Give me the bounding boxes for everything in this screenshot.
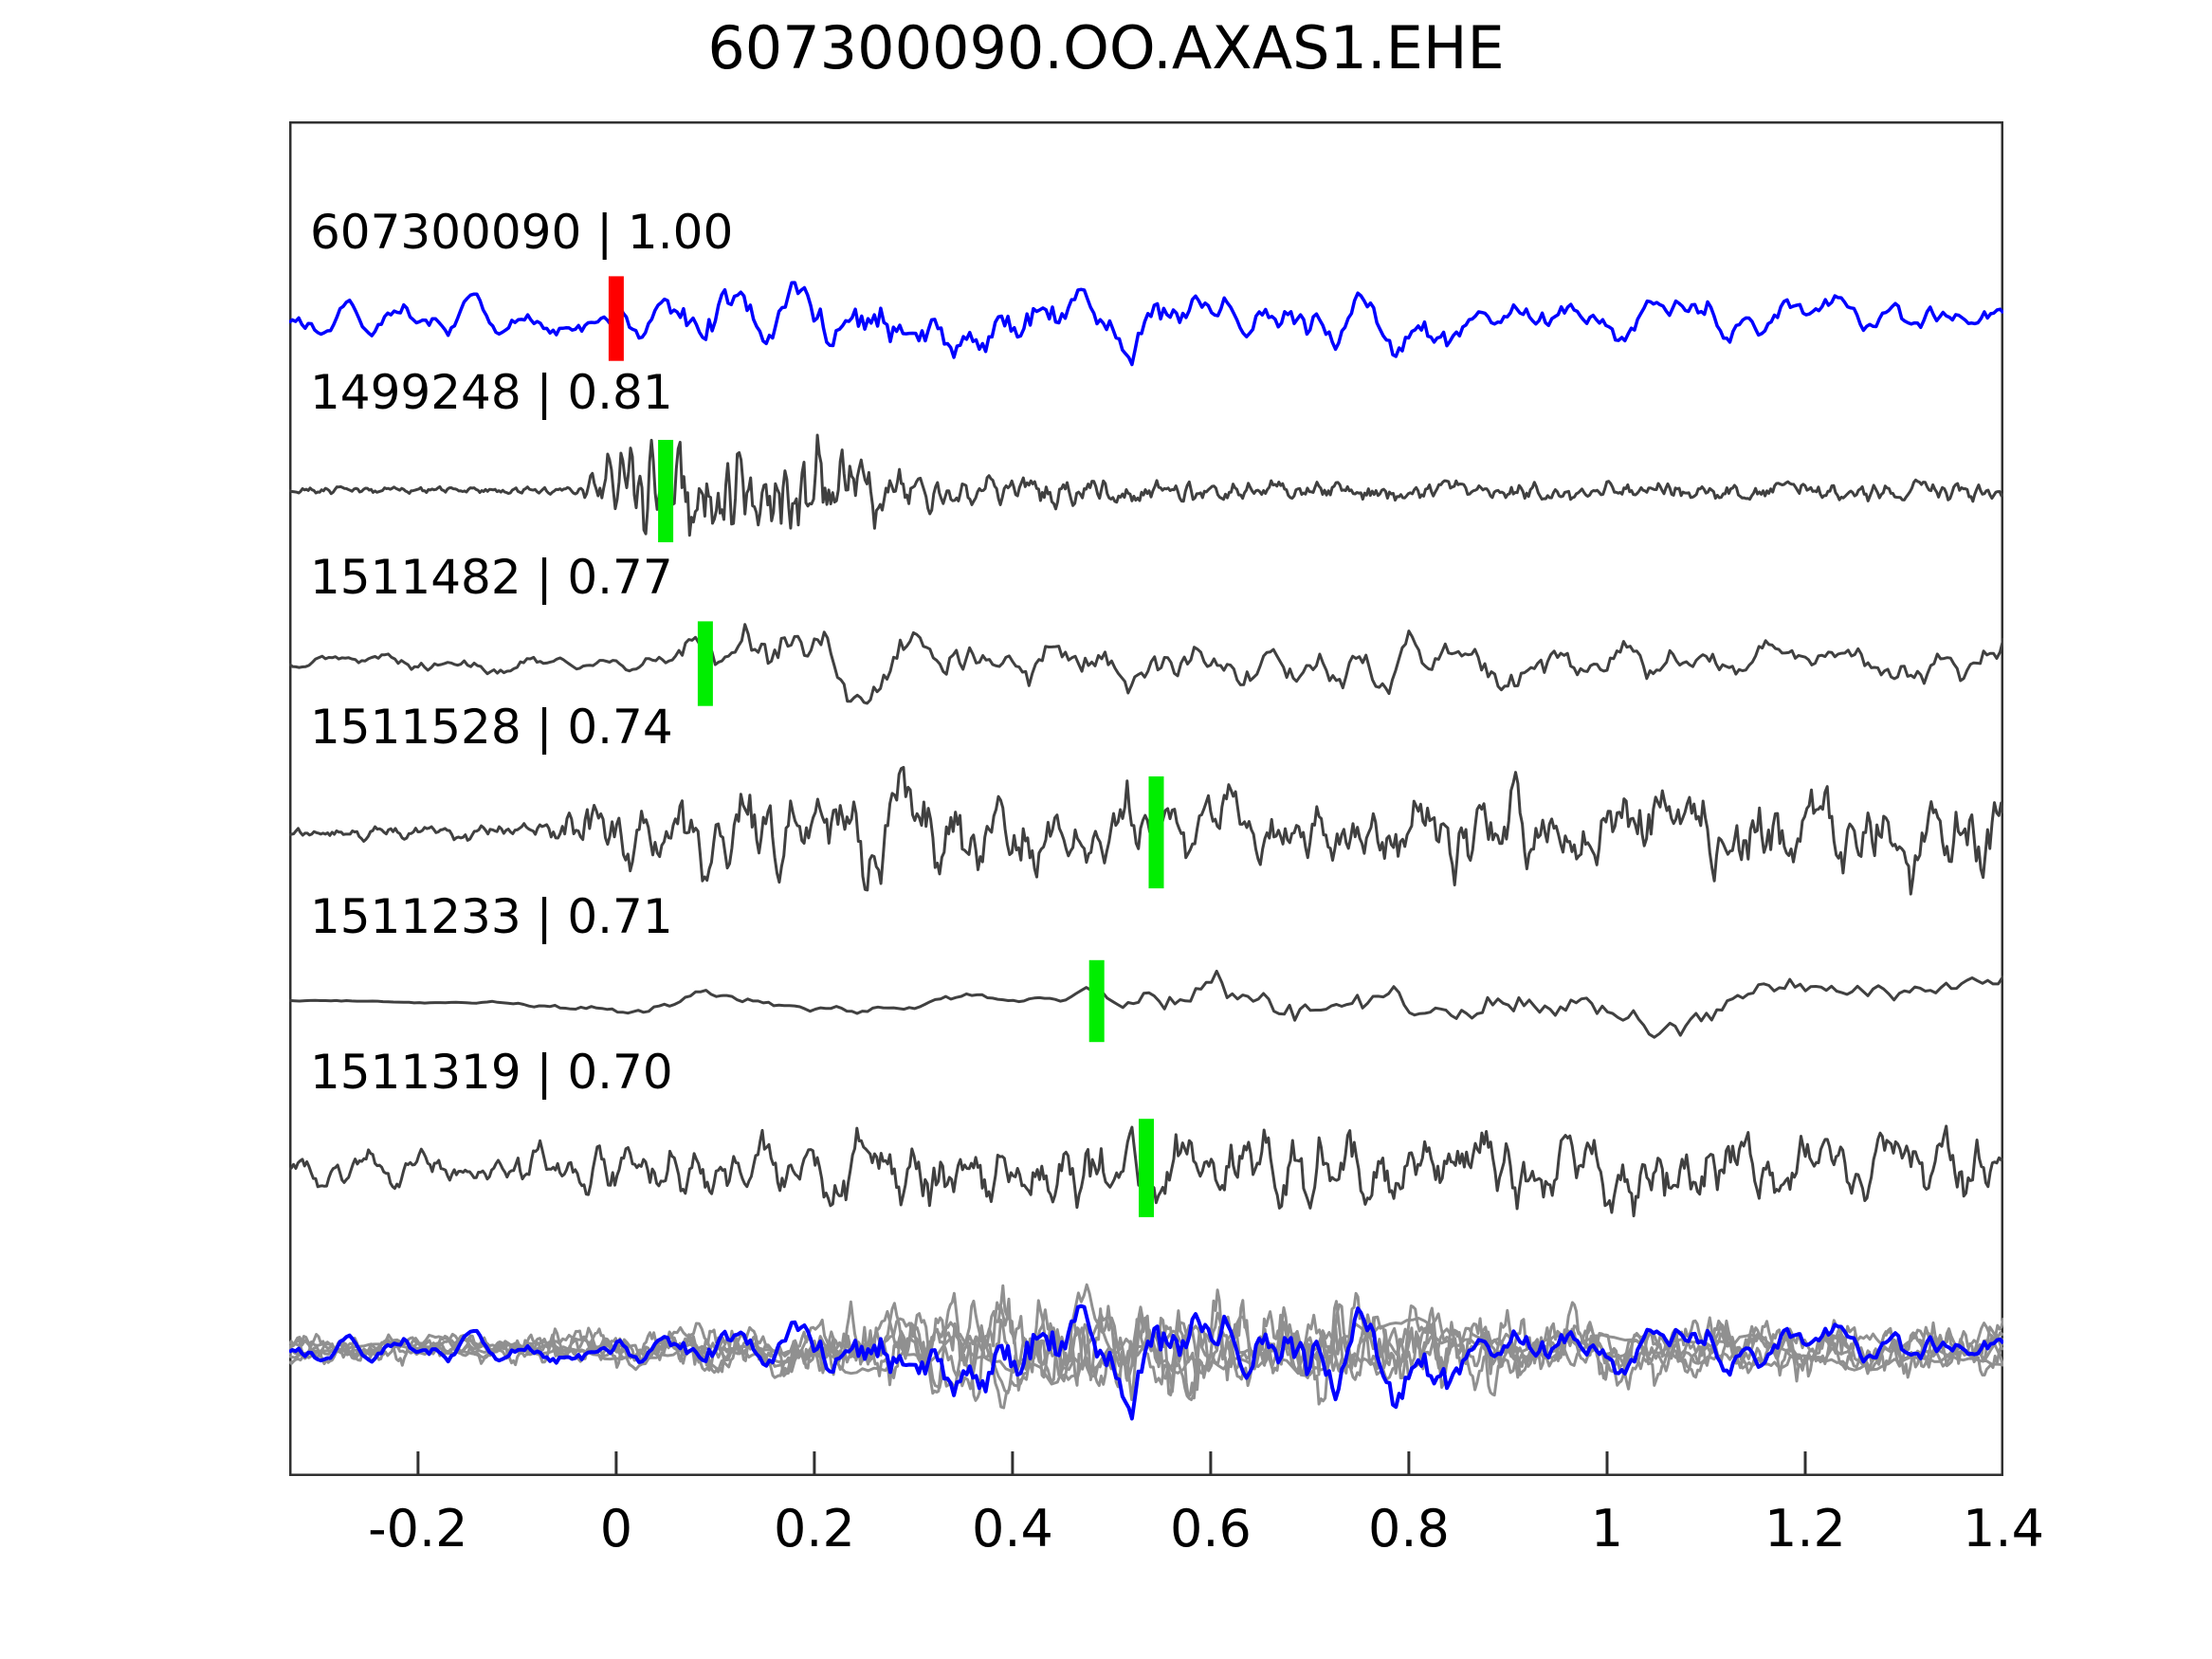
plot-area: 607300090 | 1.001499248 | 0.811511482 | … <box>289 121 2003 1476</box>
pick-marker <box>658 440 673 542</box>
pick-marker <box>1089 960 1105 1042</box>
seismic-waveform-figure: 607300090.OO.AXAS1.EHE 607300090 | 1.001… <box>0 0 2212 1659</box>
x-axis-tick-marks <box>418 1451 2003 1475</box>
waveform-trace <box>289 625 2003 703</box>
pick-marker <box>698 621 713 705</box>
x-tick-label: -0.2 <box>368 1499 467 1559</box>
waveform-trace <box>289 283 2003 364</box>
page-title: 607300090.OO.AXAS1.EHE <box>0 13 2212 82</box>
waveform-trace <box>289 435 2003 536</box>
x-tick-label: 0 <box>600 1499 632 1559</box>
x-tick-label: 1.2 <box>1764 1499 1846 1559</box>
waveform-trace <box>289 971 2003 1037</box>
x-tick-label: 1.4 <box>1963 1499 2044 1559</box>
pick-marker <box>609 276 624 360</box>
waveform-plot <box>289 121 2003 1476</box>
pick-markers-group <box>609 276 1164 1216</box>
traces-group <box>289 283 2003 1418</box>
waveform-trace <box>289 767 2003 894</box>
x-tick-label: 0.6 <box>1170 1499 1252 1559</box>
x-tick-label: 0.2 <box>774 1499 855 1559</box>
x-tick-label: 1 <box>1591 1499 1623 1559</box>
pick-marker <box>1149 776 1164 888</box>
x-tick-label: 0.4 <box>972 1499 1053 1559</box>
plot-frame <box>290 122 2002 1475</box>
pick-marker <box>1139 1119 1154 1217</box>
x-tick-label: 0.8 <box>1368 1499 1450 1559</box>
